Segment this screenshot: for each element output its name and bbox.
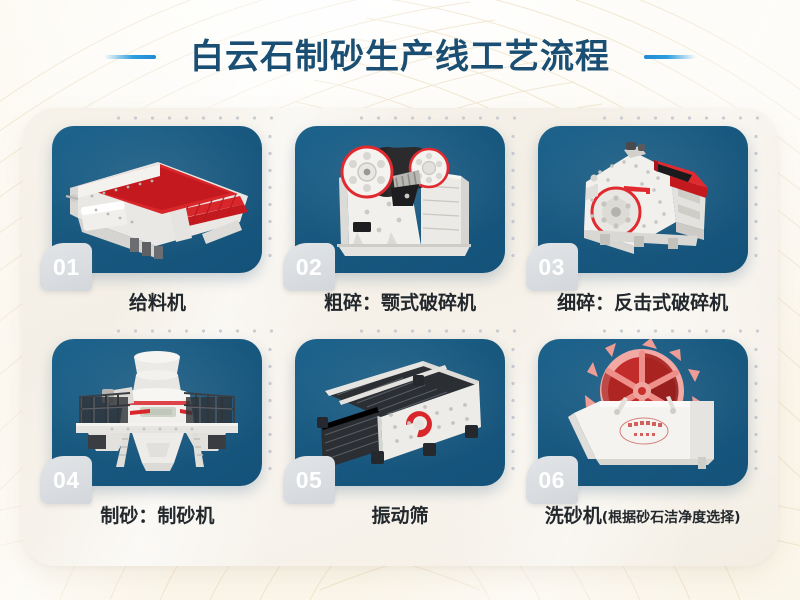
step-number-badge: 01	[40, 243, 92, 291]
dot-column-decoration	[267, 128, 273, 260]
step-card-area: 01	[52, 126, 262, 273]
step-label: 粗碎：颚式破碎机	[324, 292, 476, 314]
step-card-area: 04	[52, 339, 262, 486]
dot-column-decoration	[753, 128, 759, 260]
step-caption: 粗碎：颚式破碎机	[324, 293, 476, 314]
dot-column-decoration	[753, 341, 759, 473]
step-caption: 洗砂机(根据砂石洁净度选择)	[545, 506, 741, 527]
step-card-area: 02	[295, 126, 505, 273]
step-number-badge: 05	[283, 456, 335, 504]
dot-row-decoration	[110, 115, 280, 121]
dot-row-decoration	[596, 115, 766, 121]
step-caption: 细碎：反击式破碎机	[557, 293, 728, 314]
step-label: 细碎：反击式破碎机	[557, 292, 728, 314]
process-panel: 01 给料机	[22, 108, 778, 566]
step-caption: 制砂：制砂机	[100, 506, 214, 527]
step-number-badge: 04	[40, 456, 92, 504]
step-label: 洗砂机	[545, 505, 602, 527]
dot-column-decoration	[510, 341, 516, 473]
step-label: 给料机	[129, 292, 186, 314]
step-number-badge: 02	[283, 243, 335, 291]
step-caption: 给料机	[129, 293, 186, 314]
page-title: 白云石制砂生产线工艺流程	[190, 40, 610, 74]
step-label: 制砂：制砂机	[100, 505, 214, 527]
title-dash-right-icon	[644, 55, 696, 59]
process-step-grid: 01 给料机	[22, 108, 778, 566]
step-caption: 振动筛	[371, 506, 428, 527]
step-label: 振动筛	[371, 505, 428, 527]
process-step-02[interactable]: 02 粗碎：颚式破碎机	[279, 126, 522, 339]
process-step-05[interactable]: 05 振动筛	[279, 339, 522, 552]
step-card-area: 06	[538, 339, 748, 486]
dot-column-decoration	[510, 128, 516, 260]
dot-row-decoration	[353, 115, 523, 121]
process-step-06[interactable]: 06 洗砂机(根据砂石洁净度选择)	[521, 339, 764, 552]
step-card-area: 03	[538, 126, 748, 273]
step-number-badge: 03	[526, 243, 578, 291]
dot-column-decoration	[267, 341, 273, 473]
step-number-badge: 06	[526, 456, 578, 504]
page-header: 白云石制砂生产线工艺流程	[0, 26, 800, 88]
step-card-area: 05	[295, 339, 505, 486]
title-dash-left-icon	[104, 55, 156, 59]
process-step-01[interactable]: 01 给料机	[36, 126, 279, 339]
step-note: (根据砂石洁净度选择)	[602, 510, 741, 526]
process-step-04[interactable]: 04 制砂：制砂机	[36, 339, 279, 552]
process-step-03[interactable]: 03 细碎：反击式破碎机	[521, 126, 764, 339]
